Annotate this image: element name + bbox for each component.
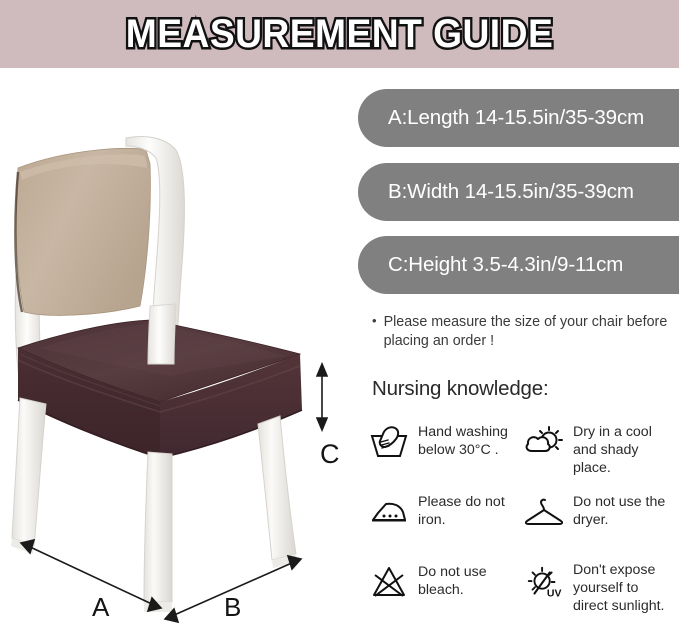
- care-item-no-uv: UV Don't expose yourself to direct sunli…: [523, 561, 674, 623]
- care-instructions-grid: Hand washing below 30°C . Dry in a co: [368, 421, 674, 623]
- care-item-dry-shade-text: Dry in a cool and shady place.: [573, 421, 674, 478]
- care-item-no-iron-text: Please do not iron.: [418, 491, 523, 529]
- care-item-no-bleach-text: Do not use bleach.: [418, 561, 523, 599]
- page-title: MEASUREMENT GUIDE: [24, 0, 655, 68]
- care-item-hand-wash: Hand washing below 30°C .: [368, 421, 523, 491]
- care-item-no-dryer: Do not use the dryer.: [523, 491, 674, 561]
- measure-note-text: Please measure the size of your chair be…: [384, 313, 672, 352]
- care-item-hand-wash-text: Hand washing below 30°C .: [418, 421, 523, 459]
- measurement-pill-height: C:Height 3.5-4.3in/9-11cm: [358, 236, 679, 294]
- care-item-no-uv-text: Don't expose yourself to direct sunlight…: [573, 561, 674, 616]
- no-uv-sunlight-icon: UV: [523, 563, 565, 601]
- care-item-no-bleach: Do not use bleach.: [368, 561, 523, 623]
- hand-wash-icon: [368, 423, 410, 461]
- care-item-dry-shade: Dry in a cool and shady place.: [523, 421, 674, 491]
- measurement-pill-length-label: A:Length 14-15.5in/35-39cm: [388, 106, 644, 130]
- measure-note: • Please measure the size of your chair …: [372, 313, 672, 352]
- dimension-label-b: B: [224, 592, 241, 623]
- measurement-pill-width-label: B:Width 14-15.5in/35-39cm: [388, 180, 634, 204]
- care-item-no-dryer-text: Do not use the dryer.: [573, 491, 674, 529]
- chair-illustration: C A B: [0, 68, 355, 625]
- measurement-guide-page: MEASUREMENT GUIDE: [0, 0, 679, 625]
- bullet-icon: •: [372, 313, 377, 352]
- nursing-knowledge-heading: Nursing knowledge:: [372, 377, 548, 401]
- svg-text:UV: UV: [547, 587, 562, 599]
- measurement-pill-width: B:Width 14-15.5in/35-39cm: [358, 163, 679, 221]
- dimension-label-c: C: [320, 439, 340, 470]
- no-bleach-icon: [368, 563, 410, 601]
- no-dryer-hanger-icon: [523, 493, 565, 531]
- care-item-no-iron: Please do not iron.: [368, 491, 523, 561]
- no-iron-icon: [368, 493, 410, 531]
- measurement-pill-length: A:Length 14-15.5in/35-39cm: [358, 89, 679, 147]
- measurement-pill-height-label: C:Height 3.5-4.3in/9-11cm: [388, 253, 623, 277]
- dimension-label-a: A: [92, 592, 109, 623]
- cloud-sun-dry-icon: [523, 423, 565, 461]
